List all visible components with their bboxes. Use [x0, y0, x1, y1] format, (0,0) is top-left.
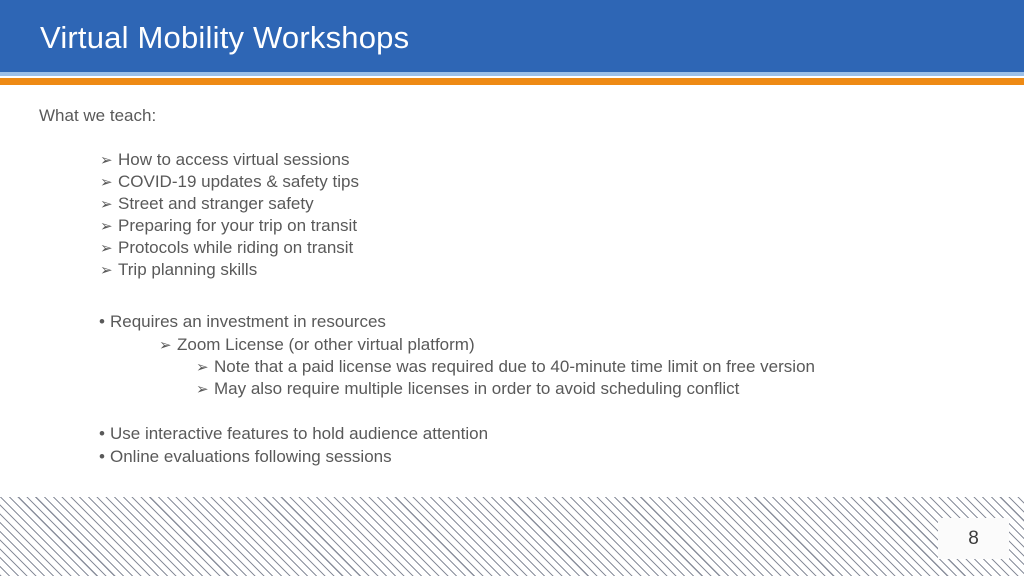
- slide-body: What we teach: ➢How to access virtual se…: [0, 85, 1024, 497]
- list-item-label: Trip planning skills: [118, 260, 257, 279]
- resources-note-label: Note that a paid license was required du…: [214, 357, 815, 376]
- list-item-label: COVID-19 updates & safety tips: [118, 172, 359, 191]
- dot-bullet-icon: •: [99, 446, 110, 468]
- arrow-bullet-icon: ➢: [196, 379, 214, 401]
- list-item: ➢Street and stranger safety: [100, 193, 314, 216]
- arrow-bullet-icon: ➢: [100, 150, 118, 172]
- arrow-bullet-icon: ➢: [159, 335, 177, 357]
- slide: Virtual Mobility Workshops What we teach…: [0, 0, 1024, 576]
- resources-note-label: May also require multiple licenses in or…: [214, 379, 739, 398]
- arrow-bullet-icon: ➢: [100, 216, 118, 238]
- page-number-box: 8: [938, 518, 1009, 559]
- dot-bullet-icon: •: [99, 423, 110, 445]
- resources-sub-label: Zoom License (or other virtual platform): [177, 335, 475, 354]
- header-orange-rule: [0, 78, 1024, 85]
- resources-note-item: ➢May also require multiple licenses in o…: [196, 378, 739, 401]
- resources-heading-label: Requires an investment in resources: [110, 312, 386, 331]
- arrow-bullet-icon: ➢: [100, 194, 118, 216]
- page-number: 8: [968, 529, 979, 548]
- closing-item-label: Use interactive features to hold audienc…: [110, 424, 488, 443]
- list-item-label: Protocols while riding on transit: [118, 238, 353, 257]
- arrow-bullet-icon: ➢: [196, 357, 214, 379]
- list-item: ➢COVID-19 updates & safety tips: [100, 171, 359, 194]
- arrow-bullet-icon: ➢: [100, 238, 118, 260]
- resources-note-item: ➢Note that a paid license was required d…: [196, 356, 815, 379]
- body-lead-text: What we teach:: [39, 105, 156, 127]
- dot-bullet-icon: •: [99, 311, 110, 333]
- list-item: ➢Trip planning skills: [100, 259, 257, 282]
- arrow-bullet-icon: ➢: [100, 172, 118, 194]
- closing-item: •Online evaluations following sessions: [99, 446, 392, 468]
- resources-sub-item: ➢Zoom License (or other virtual platform…: [159, 334, 475, 357]
- list-item-label: Preparing for your trip on transit: [118, 216, 357, 235]
- slide-title: Virtual Mobility Workshops: [40, 19, 409, 57]
- resources-heading-item: •Requires an investment in resources: [99, 311, 386, 333]
- list-item: ➢How to access virtual sessions: [100, 149, 349, 172]
- footer-hatch-pattern: [0, 497, 1024, 576]
- list-item-label: Street and stranger safety: [118, 194, 314, 213]
- list-item: ➢Preparing for your trip on transit: [100, 215, 357, 238]
- closing-item-label: Online evaluations following sessions: [110, 447, 392, 466]
- closing-item: •Use interactive features to hold audien…: [99, 423, 488, 445]
- list-item: ➢Protocols while riding on transit: [100, 237, 353, 260]
- arrow-bullet-icon: ➢: [100, 260, 118, 282]
- list-item-label: How to access virtual sessions: [118, 150, 349, 169]
